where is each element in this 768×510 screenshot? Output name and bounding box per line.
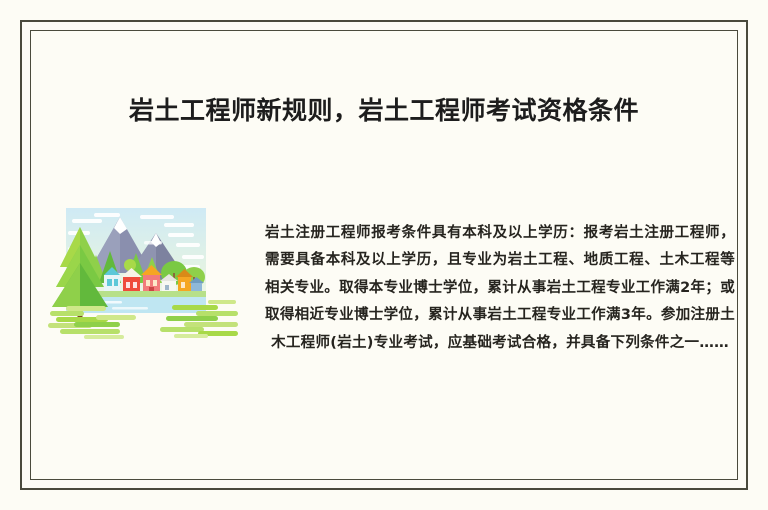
article-content: 岩土注册工程师报考条件具有本科及以上学历：报考岩土注册工程师，需要具备本科及以上… <box>40 195 740 425</box>
page-root: 岩土工程师新规则，岩土工程师考试资格条件 <box>0 0 768 510</box>
landscape-illustration-svg <box>48 203 248 353</box>
landscape-illustration <box>48 203 248 353</box>
page-title: 岩土工程师新规则，岩土工程师考试资格条件 <box>60 95 708 128</box>
article-body-text: 岩土注册工程师报考条件具有本科及以上学历：报考岩土注册工程师，需要具备本科及以上… <box>265 220 735 358</box>
